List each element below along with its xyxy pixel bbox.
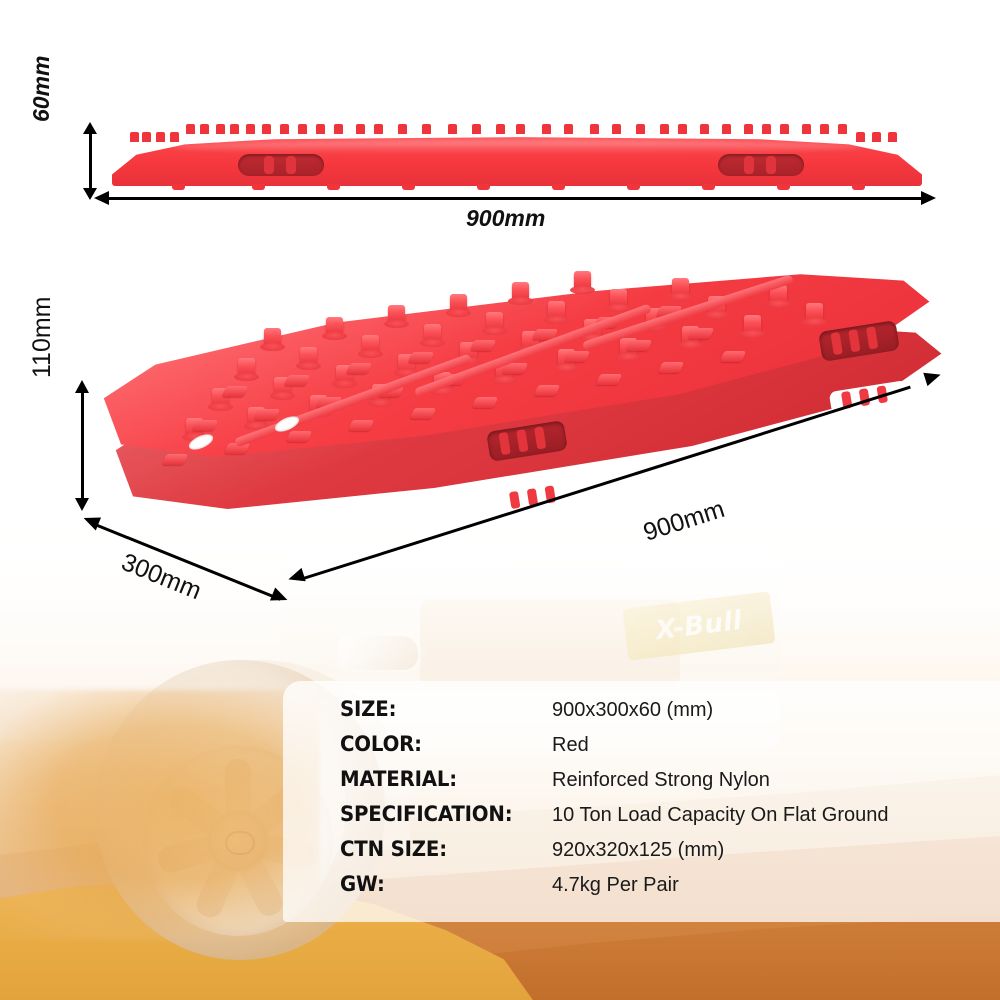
track-stud — [516, 124, 525, 134]
recovery-track-iso-view — [78, 268, 958, 568]
track-foot — [852, 184, 865, 190]
track-stud — [636, 124, 645, 134]
spec-value: 900x300x60 (mm) — [552, 699, 713, 722]
dimension-label-110mm: 110mm — [28, 296, 57, 378]
track-stud — [872, 132, 881, 142]
track-stud — [564, 124, 573, 134]
track-stud — [888, 132, 897, 142]
track-stud — [398, 124, 407, 134]
track-stud — [356, 124, 365, 134]
track-foot — [172, 184, 185, 190]
track-stud — [856, 132, 865, 142]
spec-row: SPECIFICATION:10 Ton Load Capacity On Fl… — [340, 802, 980, 837]
track-stud — [486, 312, 503, 331]
track-stud — [678, 124, 687, 134]
track-foot — [327, 184, 340, 190]
track-stud — [186, 124, 195, 134]
track-cleat — [408, 352, 434, 363]
track-stud — [574, 271, 591, 290]
track-stud — [590, 124, 599, 134]
track-stud — [700, 124, 709, 134]
track-stud — [838, 124, 847, 134]
dimension-label-60mm: 60mm — [28, 56, 55, 122]
track-stud — [744, 124, 753, 134]
spec-key: SIZE: — [340, 697, 539, 721]
track-cleat — [626, 340, 652, 351]
track-stud — [262, 124, 271, 134]
track-cleat — [254, 409, 280, 420]
spec-key: GW: — [340, 872, 539, 896]
track-stud — [374, 124, 383, 134]
track-side-highlight — [172, 140, 862, 154]
spec-key: SPECIFICATION: — [340, 802, 539, 826]
spec-key: COLOR: — [340, 732, 539, 756]
specification-table: SIZE:900x300x60 (mm)COLOR:RedMATERIAL:Re… — [340, 697, 980, 907]
handle-cutout — [718, 154, 804, 176]
track-stud — [820, 124, 829, 134]
track-foot — [477, 184, 490, 190]
spec-row: CTN SIZE:920x320x125 (mm) — [340, 837, 980, 872]
track-stud — [612, 124, 621, 134]
track-stud — [610, 289, 627, 308]
track-stud — [802, 124, 811, 134]
track-stud — [512, 282, 529, 301]
product-image-canvas: X-Bull 60mm — [0, 0, 1000, 1000]
track-stud — [806, 303, 823, 322]
spec-value: 10 Ton Load Capacity On Flat Ground — [552, 804, 889, 827]
track-stud — [424, 324, 441, 343]
recovery-track-side-view — [112, 118, 922, 196]
spec-key: MATERIAL: — [340, 767, 539, 791]
track-stud — [230, 124, 239, 134]
track-stud — [744, 315, 761, 334]
track-cleat — [348, 420, 374, 431]
track-foot — [777, 184, 790, 190]
track-stud — [316, 124, 325, 134]
track-stud — [496, 124, 505, 134]
track-stud — [298, 124, 307, 134]
track-stud — [362, 335, 379, 354]
track-stud — [280, 124, 289, 134]
spec-value: 920x320x125 (mm) — [552, 839, 724, 862]
track-stud — [300, 347, 317, 366]
track-stud — [472, 124, 481, 134]
track-foot — [402, 184, 415, 190]
track-stud — [672, 278, 689, 297]
track-stud — [660, 124, 669, 134]
track-stud — [722, 124, 731, 134]
track-foot — [252, 184, 265, 190]
spec-row: GW:4.7kg Per Pair — [340, 872, 980, 907]
track-stud — [422, 124, 431, 134]
track-stud — [334, 124, 343, 134]
specification-panel: SIZE:900x300x60 (mm)COLOR:RedMATERIAL:Re… — [283, 681, 1000, 922]
track-foot — [552, 184, 565, 190]
spec-row: MATERIAL:Reinforced Strong Nylon — [340, 767, 980, 802]
spec-value: 4.7kg Per Pair — [552, 874, 679, 897]
track-cleat — [472, 397, 498, 408]
spec-value: Red — [552, 734, 589, 757]
track-stud — [238, 358, 255, 377]
track-stud — [448, 124, 457, 134]
spec-value: Reinforced Strong Nylon — [552, 769, 770, 792]
track-stud — [542, 124, 551, 134]
track-stud — [170, 132, 179, 142]
track-stud — [264, 328, 281, 347]
track-stud — [156, 132, 165, 142]
track-foot — [627, 184, 640, 190]
recovery-track-top — [78, 268, 958, 498]
track-stud — [450, 294, 467, 313]
track-foot — [702, 184, 715, 190]
handle-cutout — [486, 420, 568, 462]
spec-key: CTN SIZE: — [340, 837, 539, 861]
track-cleat — [720, 351, 746, 362]
track-cleat — [162, 454, 188, 465]
track-stud — [142, 132, 151, 142]
track-cleat — [284, 375, 310, 386]
spec-row: COLOR:Red — [340, 732, 980, 767]
spec-row: SIZE:900x300x60 (mm) — [340, 697, 980, 732]
handle-cutout — [238, 154, 324, 176]
track-stud — [130, 132, 139, 142]
track-stud — [200, 124, 209, 134]
track-stud — [216, 124, 225, 134]
track-cleat — [596, 374, 622, 385]
track-stud — [246, 124, 255, 134]
track-stud — [326, 317, 343, 336]
track-stud — [388, 305, 405, 324]
track-stud — [548, 301, 565, 320]
track-stud — [780, 124, 789, 134]
dimension-label-900mm-side: 900mm — [466, 205, 545, 232]
track-stud — [762, 124, 771, 134]
